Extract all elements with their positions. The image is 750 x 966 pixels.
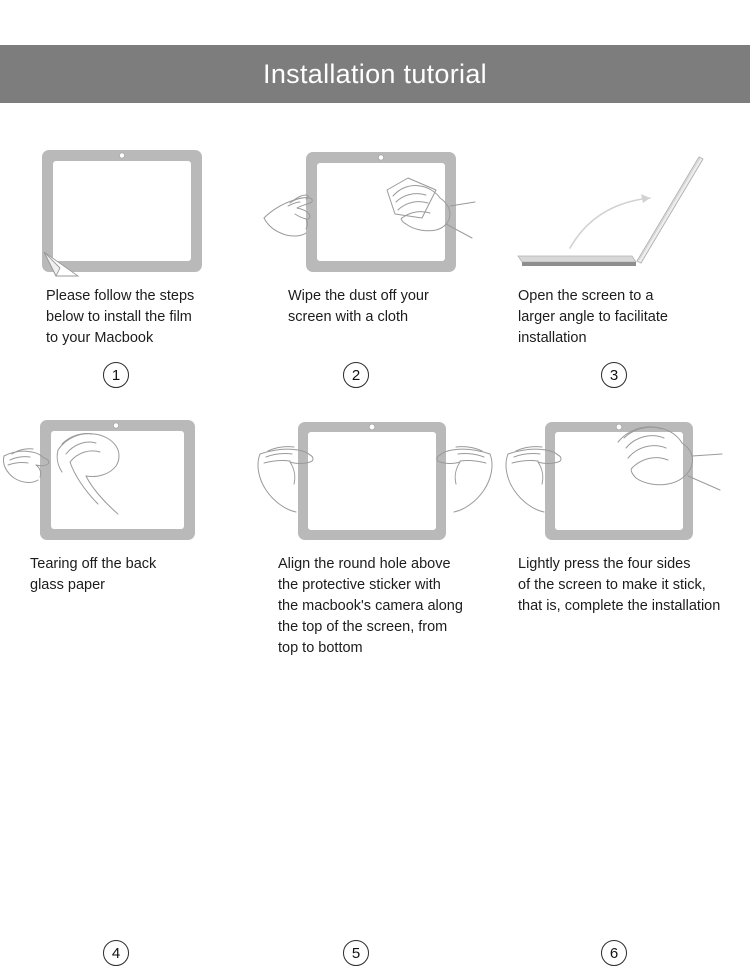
step-panel-5: Align the round hole above the protectiv…	[250, 410, 500, 659]
step-text-line: Tearing off the back	[30, 554, 232, 575]
step-panel-4: Tearing off the back glass paper 4	[0, 410, 250, 596]
step-number-label: 4	[112, 946, 120, 961]
step-text-line: Please follow the steps	[46, 286, 232, 307]
steps-grid: Please follow the steps below to install…	[0, 140, 750, 740]
illustration-two-hands-aligning-film	[250, 410, 500, 550]
step-number-badge-2: 2	[343, 362, 369, 388]
step-text-line: glass paper	[30, 575, 232, 596]
header-bar: Installation tutorial	[0, 45, 750, 103]
step-text-line: top to bottom	[278, 638, 482, 659]
illustration-hand-tearing-backing-paper	[0, 410, 250, 550]
step-text-line: to your Macbook	[46, 328, 232, 349]
step-number-label: 2	[352, 368, 360, 383]
step-text-line: the macbook's camera along	[278, 596, 482, 617]
step-number-badge-1: 1	[103, 362, 129, 388]
step-number-badge-6: 6	[601, 940, 627, 966]
step-number-badge-5: 5	[343, 940, 369, 966]
step-text-line: Lightly press the four sides	[518, 554, 732, 575]
step-text-2: Wipe the dust off your screen with a clo…	[288, 286, 500, 328]
step-text-3: Open the screen to a larger angle to fac…	[518, 286, 750, 349]
step-number-badge-4: 4	[103, 940, 129, 966]
step-text-line: below to install the film	[46, 307, 232, 328]
illustration-hand-wiping-screen-with-cloth	[250, 140, 500, 280]
step-panel-3: Open the screen to a larger angle to fac…	[500, 140, 750, 349]
step-text-line: that is, complete the installation	[518, 596, 732, 617]
step-text-line: Wipe the dust off your	[288, 286, 482, 307]
illustration-screen-with-peeling-film-corner	[0, 140, 250, 280]
step-text-line: the protective sticker with	[278, 575, 482, 596]
step-number-label: 5	[352, 946, 360, 961]
step-text-line: larger angle to facilitate	[518, 307, 732, 328]
step-number-label: 1	[112, 368, 120, 383]
step-number-label: 6	[610, 946, 618, 961]
illustration-hand-pressing-screen-sides	[500, 410, 750, 550]
step-text-line: the top of the screen, from	[278, 617, 482, 638]
step-number-label: 3	[610, 368, 618, 383]
step-panel-2: Wipe the dust off your screen with a clo…	[250, 140, 500, 328]
step-text-1: Please follow the steps below to install…	[46, 286, 250, 349]
step-text-line: screen with a cloth	[288, 307, 482, 328]
step-text-5: Align the round hole above the protectiv…	[278, 554, 500, 659]
step-text-4: Tearing off the back glass paper	[30, 554, 250, 596]
step-text-line: installation	[518, 328, 732, 349]
step-text-line: of the screen to make it stick,	[518, 575, 732, 596]
step-text-line: Align the round hole above	[278, 554, 482, 575]
step-text-line: Open the screen to a	[518, 286, 732, 307]
step-number-badge-3: 3	[601, 362, 627, 388]
illustration-laptop-side-view-opening-arrow	[500, 140, 750, 280]
step-text-6: Lightly press the four sides of the scre…	[518, 554, 750, 617]
step-panel-6: Lightly press the four sides of the scre…	[500, 410, 750, 617]
page-title: Installation tutorial	[263, 61, 487, 88]
step-panel-1: Please follow the steps below to install…	[0, 140, 250, 349]
